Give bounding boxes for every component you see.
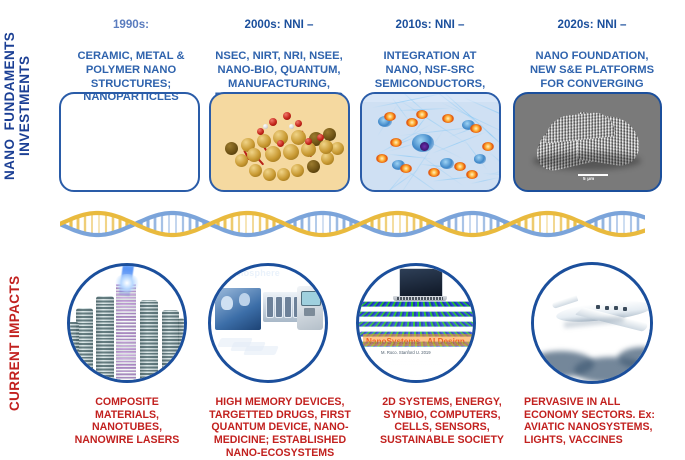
era-label-2010s: 2010s: NNI – (354, 18, 506, 32)
image-nanosphere-diagnostic-lab: nanosphere (208, 263, 328, 383)
neuron-activity-spark (428, 168, 440, 177)
image-aviatic-nanosystems-aircraft (531, 262, 653, 384)
molecular-atom (305, 138, 312, 145)
laptop-screen (399, 268, 443, 298)
molecular-atom (291, 164, 304, 177)
scale-bar-label: 5 µm (583, 176, 594, 181)
lab-technicians-photo (215, 288, 261, 330)
molecular-atom (269, 118, 277, 126)
horizon-line (534, 295, 650, 300)
neuron-activity-spark (376, 154, 388, 163)
section-label-nano-fundaments: NANO FUNDAMENTS INVESTMENTS (2, 8, 36, 204)
molecular-atom (265, 146, 281, 162)
image-molecular-ball-and-stick-model (209, 92, 350, 192)
nanowire-pillar (67, 322, 79, 380)
molecular-atom (257, 128, 264, 135)
molecular-atom (321, 152, 334, 165)
nanowire-pillar (140, 300, 158, 380)
technician-head-2 (239, 293, 250, 306)
nanowire-pillar (162, 310, 179, 380)
lab-brand-label: nanosphere (227, 268, 280, 278)
cartridge-slot (284, 296, 292, 318)
image-sem-3d-lattice-microstructure: 5 µm (513, 92, 662, 192)
infographic-canvas: NANO FUNDAMENTS INVESTMENTS CURRENT IMPA… (0, 0, 685, 454)
neuron-activity-spark (482, 142, 494, 151)
aircraft-window (605, 306, 609, 310)
molecular-atom (319, 140, 333, 154)
laser-emission-glow (114, 274, 140, 292)
cartridge-slot (275, 296, 283, 318)
neuron-activity-spark (406, 118, 418, 127)
ai-design-banner-bg (363, 334, 473, 346)
molecular-atom (225, 142, 238, 155)
molecular-atom (289, 124, 294, 129)
image-nanosystems-ai-design: NanoSystems - AI Design M. Roco, Stanfor… (356, 263, 476, 383)
molecular-atom (317, 134, 324, 141)
chip-array-layer (356, 302, 476, 307)
era-label-1990s: 1990s: (55, 18, 207, 32)
neuron-soma (474, 154, 486, 164)
nanowire-pillar (96, 296, 114, 382)
image-nanowire-laser-array (67, 263, 187, 383)
analyzer-keypad (304, 308, 315, 316)
neuron-activity-spark (442, 114, 454, 123)
molecular-atom (263, 124, 268, 129)
lower-fade (359, 354, 476, 382)
aircraft-window (614, 306, 618, 310)
neuron-network-render (362, 94, 499, 102)
nanowire-pillar (178, 318, 187, 380)
molecular-atom (295, 120, 302, 127)
image-neuromorphic-neuron-network (360, 92, 501, 192)
nanowire-lasing-pillar (116, 284, 136, 380)
impact-caption-2020s: PERVASIVE IN ALL ECONOMY SECTORS. Ex: AV… (524, 396, 682, 447)
neuron-activity-spark (466, 170, 478, 179)
era-label-2000s: 2000s: NNI – (199, 18, 359, 32)
chip-array-layer (356, 312, 476, 317)
neuron-activity-spark (384, 112, 396, 121)
molecular-atom (249, 164, 262, 177)
dna-double-helix-divider (60, 198, 645, 250)
neuron-activity-spark (454, 162, 466, 171)
cartridge-slot (266, 296, 274, 318)
section-label-current-impacts: CURRENT IMPACTS (7, 268, 27, 418)
laptop-keyboard (397, 297, 443, 300)
era-label-2020s: 2020s: NNI – (508, 18, 676, 32)
molecular-atom (307, 160, 320, 173)
molecular-atom (277, 140, 284, 147)
neuron-activity-spark (400, 164, 412, 173)
aircraft-window (596, 305, 600, 309)
image-afm-nanostructure-surface (59, 92, 200, 192)
molecular-atom (283, 144, 299, 160)
molecular-atom (263, 168, 276, 181)
neuron-nucleus (420, 142, 429, 151)
molecular-atom (331, 142, 344, 155)
molecular-atom (283, 112, 291, 120)
impact-caption-1990s: COMPOSITE MATERIALS, NANOTUBES, NANOWIRE… (52, 396, 202, 447)
chip-array-layer (356, 322, 476, 327)
molecular-atom (277, 168, 290, 181)
technician-head-1 (221, 296, 233, 310)
impact-caption-2000s: HIGH MEMORY DEVICES, TARGETTED DRUGS, FI… (196, 396, 364, 460)
neuron-activity-spark (470, 124, 482, 133)
neuron-activity-spark (416, 110, 428, 119)
molecular-atom (247, 148, 261, 162)
molecular-atom (235, 154, 248, 167)
assay-strip (243, 346, 279, 355)
sem-shadow (533, 152, 641, 170)
neuron-activity-spark (390, 138, 402, 147)
aircraft-window (623, 307, 627, 311)
impact-caption-2010s: 2D SYSTEMS, ENERGY, SYNBIO, COMPUTERS, C… (366, 396, 518, 447)
analyzer-screen (301, 291, 321, 306)
